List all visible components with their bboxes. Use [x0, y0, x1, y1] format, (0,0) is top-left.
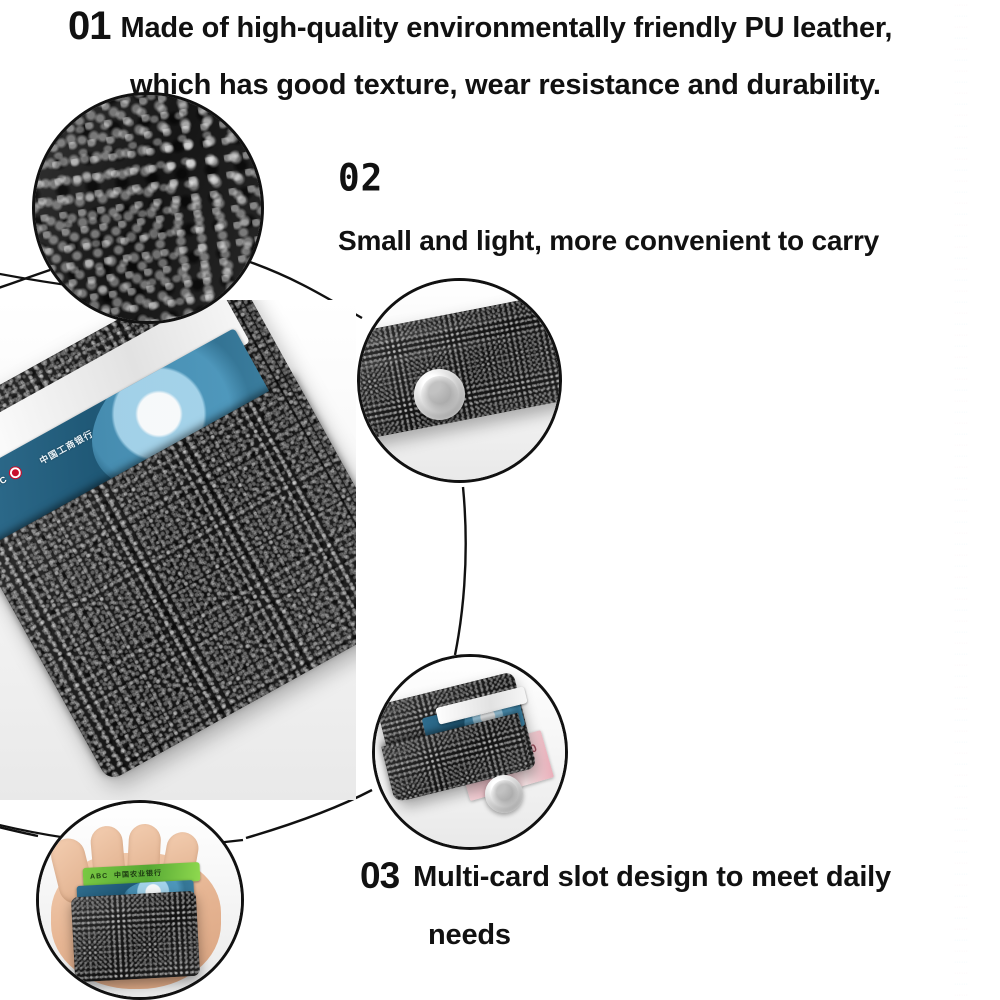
watermark-row: ······ — [954, 693, 1000, 704]
watermark-row: ······ — [954, 627, 1000, 638]
watermark-row: ······ — [954, 495, 1000, 506]
watermark-row: ······ — [954, 110, 1000, 121]
feature-01-block: 01Made of high-quality environmentally f… — [68, 4, 978, 102]
watermark-row: ······ — [954, 462, 1000, 473]
watermark-row: ······ — [954, 748, 1000, 759]
feature-03-text-1: Multi-card slot design to meet daily — [413, 861, 891, 893]
feature-03-block: 03Multi-card slot design to meet daily n… — [360, 855, 980, 952]
watermark-row: ······ — [954, 880, 1000, 891]
watermark-row: ······ — [954, 33, 1000, 44]
watermark-row: ······ — [954, 726, 1000, 737]
watermark-row: ······ — [954, 847, 1000, 858]
watermark-row: ······ — [954, 275, 1000, 286]
abc-brand-label: ABC 中国农业银行 — [90, 868, 162, 882]
circle-photo-wallet-in-hand: ABC 中国农业银行 — [36, 800, 244, 1000]
watermark-row: ······ — [954, 154, 1000, 165]
watermark-row: ······ — [954, 968, 1000, 979]
watermark-row: ······ — [954, 715, 1000, 726]
watermark-row: ······ — [954, 407, 1000, 418]
feature-02-number: 02 — [338, 157, 383, 200]
watermark-row: ······ — [954, 484, 1000, 495]
watermark-row: ······ — [954, 913, 1000, 924]
watermark-row: ······ — [954, 242, 1000, 253]
watermark-row: ······ — [954, 869, 1000, 880]
circle-photo-wallet-with-money: 100 — [372, 654, 568, 850]
watermark-row: ······ — [954, 858, 1000, 869]
circle-photo-wallet-with-coin — [357, 278, 562, 483]
feature-03-number: 03 — [360, 855, 399, 896]
watermark-row: ······ — [954, 660, 1000, 671]
feature-01-line-1: 01Made of high-quality environmentally f… — [68, 4, 978, 49]
watermark-row: ······ — [954, 66, 1000, 77]
hero-product-photo: ICBC 中国工商银行 — [0, 300, 356, 800]
watermark-row: ······ — [954, 891, 1000, 902]
watermark-row: ······ — [954, 286, 1000, 297]
watermark-row: ······ — [954, 979, 1000, 990]
feature-01-number: 01 — [68, 4, 111, 48]
watermark-row: ······ — [954, 671, 1000, 682]
watermark-row: ······ — [954, 539, 1000, 550]
icbc-wordmark: ICBC — [0, 474, 9, 494]
watermark-row: ······ — [954, 990, 1000, 1000]
watermark-row: ······ — [954, 792, 1000, 803]
watermark-row: ······ — [954, 803, 1000, 814]
watermark-row: ······ — [954, 561, 1000, 572]
watermark-row: ······ — [954, 473, 1000, 484]
watermark-row: ······ — [954, 231, 1000, 242]
watermark-row: ······ — [954, 550, 1000, 561]
watermark-row: ······ — [954, 583, 1000, 594]
watermark-row: ······ — [954, 132, 1000, 143]
watermark-row: ······ — [954, 385, 1000, 396]
feature-02-text-1: Small and light, more convenient to carr… — [338, 225, 978, 257]
circle-photo-leather-grain — [32, 92, 264, 324]
edge-watermark: ········································… — [954, 0, 1000, 1000]
feature-02-block: 02 Small and light, more convenient to c… — [338, 158, 978, 257]
watermark-row: ······ — [954, 517, 1000, 528]
watermark-row: ······ — [954, 0, 1000, 11]
watermark-row: ······ — [954, 297, 1000, 308]
watermark-row: ······ — [954, 946, 1000, 957]
watermark-row: ······ — [954, 638, 1000, 649]
icbc-chinese-name: 中国工商银行 — [37, 426, 96, 466]
watermark-row: ······ — [954, 330, 1000, 341]
feature-02-number-line: 02 — [338, 158, 978, 199]
feature-01-text-1: Made of high-quality environmentally fri… — [121, 12, 893, 44]
watermark-row: ······ — [954, 88, 1000, 99]
watermark-row: ······ — [954, 99, 1000, 110]
watermark-row: ······ — [954, 836, 1000, 847]
watermark-row: ······ — [954, 770, 1000, 781]
watermark-row: ······ — [954, 264, 1000, 275]
watermark-row: ······ — [954, 253, 1000, 264]
feature-03-text-2: needs — [428, 919, 980, 952]
icbc-logo-icon — [7, 464, 25, 482]
feature-03-line-1: 03Multi-card slot design to meet daily — [360, 855, 980, 897]
watermark-row: ······ — [954, 814, 1000, 825]
watermark-row: ······ — [954, 418, 1000, 429]
watermark-row: ······ — [954, 22, 1000, 33]
watermark-row: ······ — [954, 176, 1000, 187]
watermark-row: ······ — [954, 825, 1000, 836]
watermark-row: ······ — [954, 308, 1000, 319]
watermark-row: ······ — [954, 319, 1000, 330]
watermark-row: ······ — [954, 363, 1000, 374]
watermark-row: ······ — [954, 935, 1000, 946]
watermark-row: ······ — [954, 957, 1000, 968]
watermark-row: ······ — [954, 396, 1000, 407]
watermark-row: ······ — [954, 649, 1000, 660]
watermark-row: ······ — [954, 429, 1000, 440]
watermark-row: ······ — [954, 781, 1000, 792]
watermark-row: ······ — [954, 187, 1000, 198]
watermark-row: ······ — [954, 374, 1000, 385]
watermark-row: ······ — [954, 759, 1000, 770]
watermark-row: ······ — [954, 924, 1000, 935]
watermark-row: ······ — [954, 198, 1000, 209]
watermark-row: ······ — [954, 594, 1000, 605]
watermark-row: ······ — [954, 440, 1000, 451]
slot-edge-highlight-2 — [357, 326, 557, 370]
card-holder-body — [71, 891, 201, 983]
watermark-row: ······ — [954, 165, 1000, 176]
watermark-row: ······ — [954, 506, 1000, 517]
watermark-row: ······ — [954, 352, 1000, 363]
watermark-row: ······ — [954, 209, 1000, 220]
icbc-brand-row: ICBC — [0, 464, 25, 495]
infographic-canvas: ICBC 中国工商银行 01Made of high-quality envir… — [0, 0, 1000, 1000]
watermark-row: ······ — [954, 737, 1000, 748]
watermark-row: ······ — [954, 451, 1000, 462]
watermark-row: ······ — [954, 605, 1000, 616]
watermark-row: ······ — [954, 341, 1000, 352]
watermark-row: ······ — [954, 55, 1000, 66]
watermark-row: ······ — [954, 44, 1000, 55]
watermark-row: ······ — [954, 704, 1000, 715]
watermark-row: ······ — [954, 616, 1000, 627]
leather-grain-texture — [32, 92, 264, 324]
watermark-row: ······ — [954, 220, 1000, 231]
watermark-row: ······ — [954, 572, 1000, 583]
watermark-row: ······ — [954, 11, 1000, 22]
watermark-row: ······ — [954, 121, 1000, 132]
watermark-row: ······ — [954, 902, 1000, 913]
watermark-row: ······ — [954, 143, 1000, 154]
coin — [485, 775, 523, 813]
watermark-row: ······ — [954, 682, 1000, 693]
watermark-row: ······ — [954, 528, 1000, 539]
watermark-row: ······ — [954, 77, 1000, 88]
